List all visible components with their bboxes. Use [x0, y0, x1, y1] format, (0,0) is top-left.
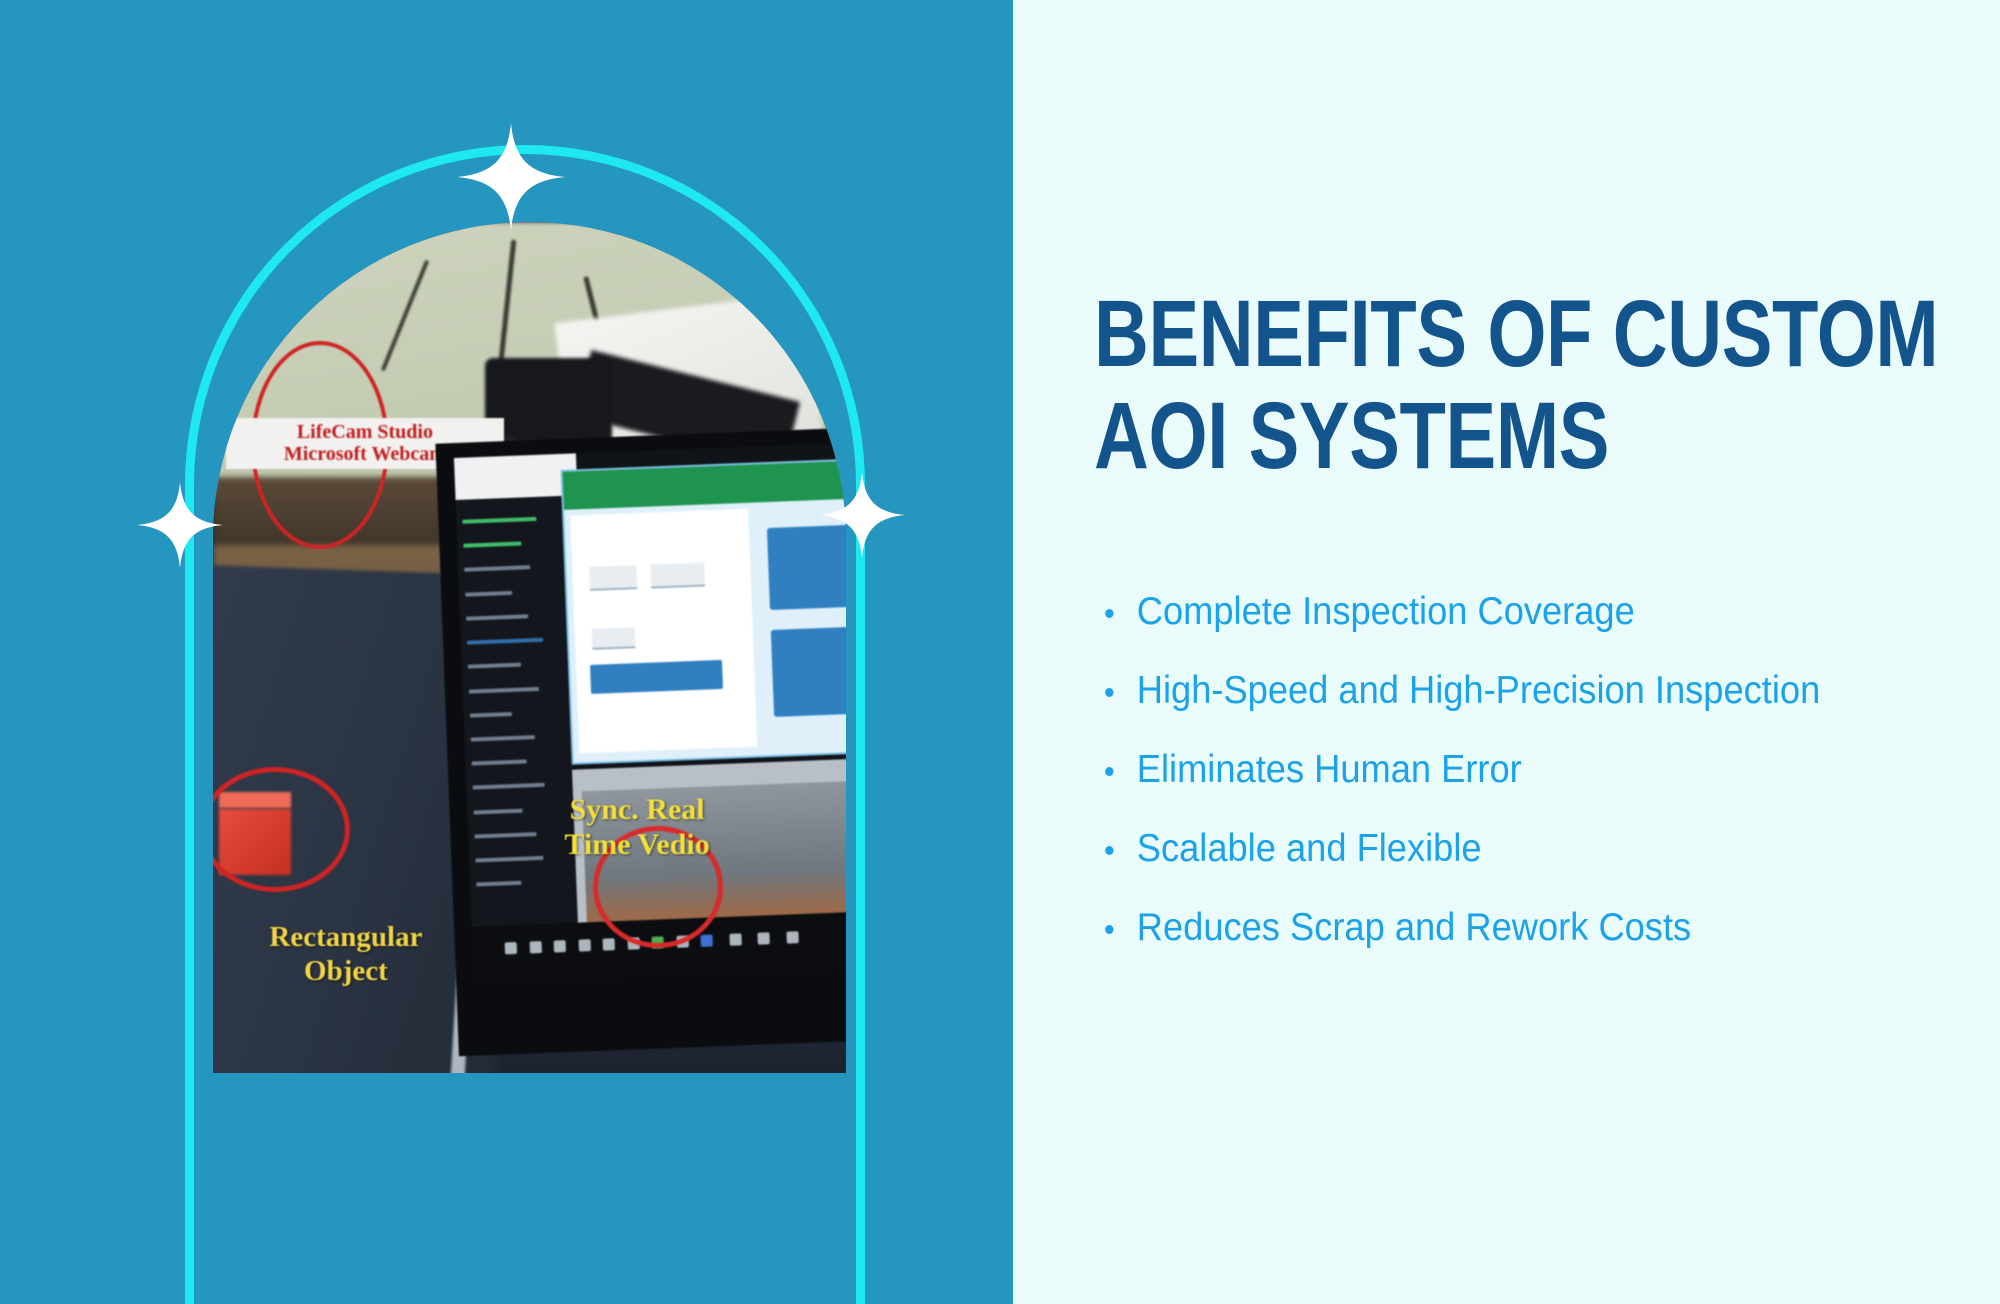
page-title-line-1: Benefits of Custom — [1094, 289, 1782, 379]
photo-annotation-webcam-line1: LifeCam Studio — [226, 421, 505, 443]
photo-annotation-object-line2: Object — [213, 954, 498, 988]
list-item: Eliminates Human Error — [1094, 748, 1894, 792]
photo-annotation-video-line2: Time Vedio — [492, 827, 783, 862]
arch-photo: LifeCam Studio Microsoft Webcam — [213, 222, 846, 1073]
list-item: Scalable and Flexible — [1094, 827, 1894, 871]
photo-inner: LifeCam Studio Microsoft Webcam — [213, 222, 846, 1073]
left-color-panel: LifeCam Studio Microsoft Webcam — [0, 0, 1013, 1304]
laptop-app-window — [560, 458, 846, 764]
list-item: Reduces Scrap and Rework Costs — [1094, 906, 1894, 950]
photo-annotation-label-video: Sync. Real Time Vedio — [492, 792, 783, 862]
page-title: Benefits of Custom AOI Systems — [1094, 289, 1782, 482]
page-title-line-2: AOI Systems — [1094, 391, 1782, 481]
sparkle-top-icon — [457, 123, 565, 231]
sparkle-left-icon — [137, 482, 223, 568]
laptop-app-titlebar — [562, 460, 846, 509]
benefits-list: Complete Inspection Coverage High-Speed … — [1094, 590, 1954, 950]
list-item: Complete Inspection Coverage — [1094, 590, 1894, 634]
laptop-terminal-pane — [456, 496, 581, 984]
list-item: High-Speed and High-Precision Inspection — [1094, 669, 1894, 713]
photo-annotation-video-line1: Sync. Real — [492, 792, 783, 827]
photo-annotation-label-object: Rectangular Object — [213, 920, 498, 988]
laptop-app-form — [570, 508, 758, 753]
slide-root: LifeCam Studio Microsoft Webcam — [0, 0, 2000, 1304]
photo-annotation-object-line1: Rectangular — [213, 920, 498, 954]
